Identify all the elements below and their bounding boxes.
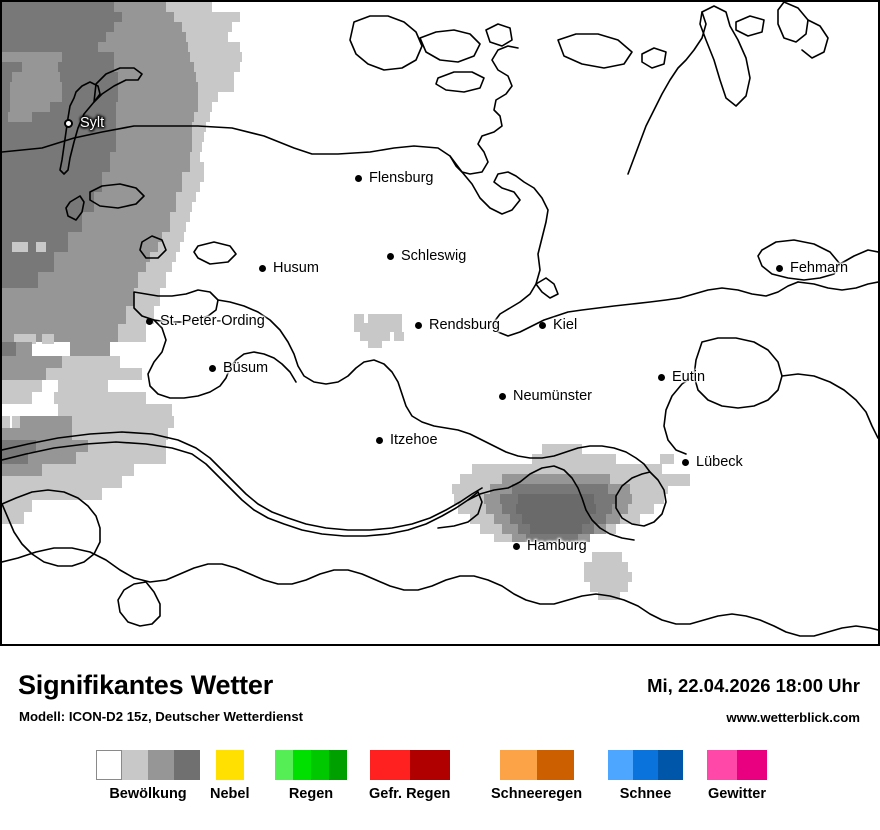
weather-map-page: Sylt Flensburg Schleswig Husum Fehmarn R… <box>0 0 880 830</box>
city-sylt[interactable]: Sylt <box>64 116 104 131</box>
legend-label: Bewölkung <box>109 786 186 802</box>
legend-swatch-segment <box>537 750 574 780</box>
city-name: Itzehoe <box>390 433 438 448</box>
city-dot <box>539 322 546 329</box>
legend-swatch-segment <box>216 750 244 780</box>
city-hamburg[interactable]: Hamburg <box>513 539 587 554</box>
city-name: Fehmarn <box>790 261 848 276</box>
city-dot <box>64 119 73 128</box>
legend-swatch-segment <box>174 750 200 780</box>
city-itzehoe[interactable]: Itzehoe <box>376 433 438 448</box>
city-flensburg[interactable]: Flensburg <box>355 171 433 186</box>
legend-swatch-regen <box>275 750 347 780</box>
legend-item-gefr-regen[interactable]: Gefr. Regen <box>369 750 450 802</box>
legend-swatch-segment <box>275 750 293 780</box>
legend-swatch-nebel <box>216 750 244 780</box>
city-dot <box>513 543 520 550</box>
legend-item-schnee[interactable]: Schnee <box>608 750 683 802</box>
city-st-peter-ording[interactable]: St. Peter-Ording <box>146 314 265 329</box>
city-name: Eutin <box>672 370 705 385</box>
city-name: Kiel <box>553 318 577 333</box>
legend-label: Schneeregen <box>491 786 582 802</box>
city-name: Husum <box>273 261 319 276</box>
legend-swatch-segment <box>311 750 329 780</box>
city-fehmarn[interactable]: Fehmarn <box>776 261 848 276</box>
city-luebeck[interactable]: Lübeck <box>682 455 743 470</box>
city-name: Büsum <box>223 361 268 376</box>
city-dot <box>259 265 266 272</box>
legend: Bewölkung Nebel Regen <box>0 750 880 820</box>
city-name: Flensburg <box>369 171 433 186</box>
footer-panel: Signifikantes Wetter Modell: ICON-D2 15z… <box>0 646 880 830</box>
city-schleswig[interactable]: Schleswig <box>387 249 466 264</box>
legend-swatch-segment <box>658 750 683 780</box>
legend-swatch-segment <box>410 750 450 780</box>
city-name: St. Peter-Ording <box>160 314 265 329</box>
legend-swatch-segment <box>500 750 537 780</box>
legend-label: Gefr. Regen <box>369 786 450 802</box>
map-panel[interactable]: Sylt Flensburg Schleswig Husum Fehmarn R… <box>0 0 880 646</box>
legend-swatch-segment <box>329 750 347 780</box>
city-kiel[interactable]: Kiel <box>539 318 577 333</box>
city-dot <box>682 459 689 466</box>
city-dot <box>209 365 216 372</box>
city-eutin[interactable]: Eutin <box>658 370 705 385</box>
legend-swatch-gewitter <box>707 750 767 780</box>
city-dot <box>376 437 383 444</box>
city-neumuenster[interactable]: Neumünster <box>499 389 592 404</box>
page-title: Signifikantes Wetter <box>18 670 273 701</box>
city-dot <box>387 253 394 260</box>
city-dot <box>776 265 783 272</box>
legend-item-bewoelkung[interactable]: Bewölkung <box>96 750 200 802</box>
legend-item-schneeregen[interactable]: Schneeregen <box>491 750 582 802</box>
legend-swatch-segment <box>370 750 410 780</box>
legend-swatch-segment <box>707 750 737 780</box>
city-buesum[interactable]: Büsum <box>209 361 268 376</box>
city-dot <box>146 318 153 325</box>
city-rendsburg[interactable]: Rendsburg <box>415 318 500 333</box>
legend-item-gewitter[interactable]: Gewitter <box>707 750 767 802</box>
legend-swatch-gefr-regen <box>370 750 450 780</box>
legend-swatch-schnee <box>608 750 683 780</box>
city-name: Schleswig <box>401 249 466 264</box>
legend-label: Schnee <box>620 786 672 802</box>
city-dot <box>499 393 506 400</box>
city-name: Neumünster <box>513 389 592 404</box>
legend-item-regen[interactable]: Regen <box>275 750 347 802</box>
legend-label: Regen <box>289 786 333 802</box>
city-dot <box>658 374 665 381</box>
legend-swatch-segment <box>148 750 174 780</box>
legend-swatch-segment <box>633 750 658 780</box>
city-husum[interactable]: Husum <box>259 261 319 276</box>
legend-swatch-segment <box>122 750 148 780</box>
city-name: Rendsburg <box>429 318 500 333</box>
legend-swatch-bewoelkung <box>96 750 200 780</box>
city-name: Sylt <box>80 116 104 131</box>
city-name: Hamburg <box>527 539 587 554</box>
model-subtitle: Modell: ICON-D2 15z, Deutscher Wetterdie… <box>19 709 303 724</box>
legend-label: Nebel <box>210 786 250 802</box>
legend-label: Gewitter <box>708 786 766 802</box>
forecast-datetime: Mi, 22.04.2026 18:00 Uhr <box>647 675 860 697</box>
city-name: Lübeck <box>696 455 743 470</box>
legend-swatch-segment <box>96 750 122 780</box>
legend-swatch-segment <box>737 750 767 780</box>
legend-swatch-segment <box>293 750 311 780</box>
legend-item-nebel[interactable]: Nebel <box>210 750 250 802</box>
city-dot <box>355 175 362 182</box>
website-label: www.wetterblick.com <box>726 710 860 725</box>
city-dot <box>415 322 422 329</box>
legend-swatch-segment <box>608 750 633 780</box>
legend-swatch-schneeregen <box>500 750 574 780</box>
